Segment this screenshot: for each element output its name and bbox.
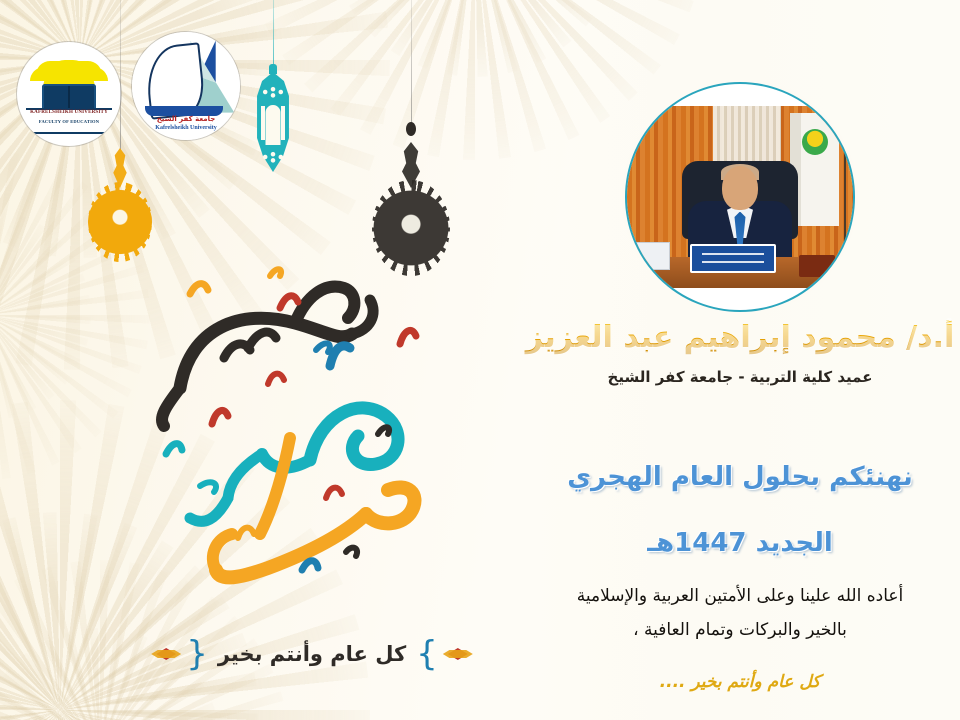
ornament-string-gold [120,0,121,150]
dean-portrait-frame [625,82,855,312]
nameplate-line-top [702,253,764,255]
brace-left: { [186,637,208,671]
lantern-top-pattern [260,85,286,99]
teal-lantern-icon [252,72,294,172]
message-line-1: أعاده الله علينا وعلى الأمتين العربية وا… [520,586,960,606]
dean-title: عميد كلية التربية - جامعة كفر الشيخ [520,368,960,386]
ornament-string-dark [411,0,412,126]
lantern-bottom-pattern [260,150,286,164]
greeting-card: KAFRELSHEIKH UNIVERSITY FACULTY OF EDUCA… [0,0,960,720]
logo-text-english: Kafrelsheikh University [155,125,216,131]
logo-faculty-of-education: KAFRELSHEIKH UNIVERSITY FACULTY OF EDUCA… [17,42,121,146]
message-signoff: كل عام وأنتم بخير .... [520,672,960,692]
person-head [722,166,758,210]
lantern-arch-window [266,105,281,145]
logo-kafrelsheikh-university: جامعة كفر الشيخ Kafrelsheikh University [132,32,240,140]
logo-text-university: KAFRELSHEIKH UNIVERSITY [30,110,108,115]
kul-aam-badge: } كل عام وأنتم بخير { [152,628,472,680]
badge-label: كل عام وأنتم بخير [218,642,406,666]
desk-wooden-box [799,255,835,277]
dark-ornament-bead [406,122,416,136]
nameplate-line-bottom [702,261,764,263]
dean-name: أ.د/ محمود إبراهيم عبد العزيز [520,320,960,355]
logo-text-faculty: FACULTY OF EDUCATION [39,119,99,124]
message-line-2: بالخير والبركات وتمام العافية ، [520,620,960,640]
right-content-column: أ.د/ محمود إبراهيم عبد العزيز عميد كلية … [520,0,960,720]
desk-papers [636,242,670,269]
diamond-ornament-icon-right [448,646,468,662]
office-window-blinds [713,106,781,168]
logo-text-arabic: جامعة كفر الشيخ [157,115,216,123]
lantern-slit-right [281,106,285,140]
lantern-string [273,0,274,74]
lantern-slit-left [261,106,265,140]
flag-pole [844,110,846,241]
dean-portrait-photo [627,106,853,288]
greeting-line-1: نهنئكم بحلول العام الهجري [520,462,960,492]
calligraphy-word-saeed [162,287,373,426]
arabic-calligraphy-artwork [120,238,540,600]
greeting-line-2: الجديد 1447هـ [520,528,960,558]
desk-nameplate [690,244,775,273]
brace-right: } [416,637,438,671]
diamond-ornament-icon-left [156,646,176,662]
flag-emblem-icon [802,129,828,155]
